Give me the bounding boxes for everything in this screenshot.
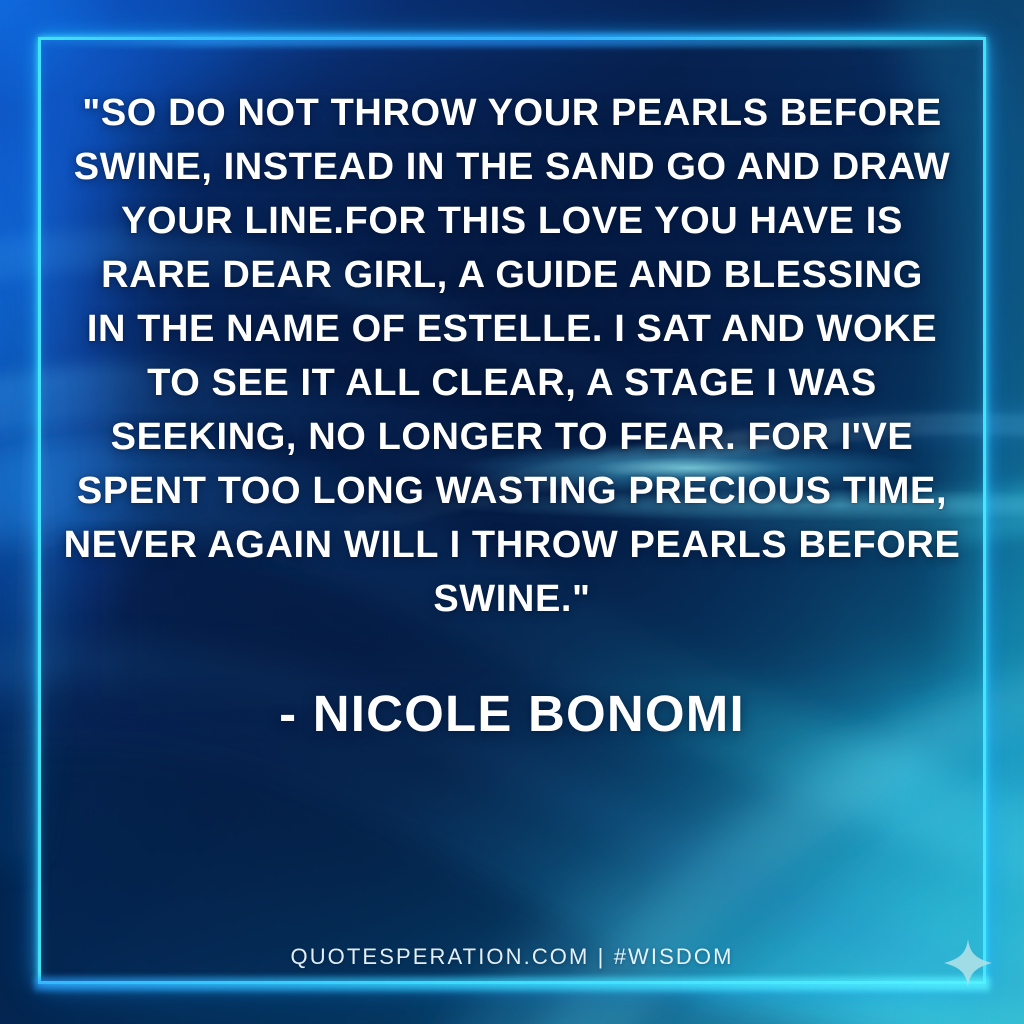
sparkle-star-icon: [943, 938, 993, 988]
quote-line: IN THE NAME OF ESTELLE. I SAT AND WOKE: [62, 302, 962, 356]
quote-line: "SO DO NOT THROW YOUR PEARLS BEFORE: [62, 86, 962, 140]
author-attribution: - NICOLE BONOMI: [62, 684, 962, 743]
quote-text: "SO DO NOT THROW YOUR PEARLS BEFORE SWIN…: [62, 86, 962, 626]
quote-line: RARE DEAR GIRL, A GUIDE AND BLESSING: [62, 248, 962, 302]
quote-line: SEEKING, NO LONGER TO FEAR. FOR I'VE: [62, 410, 962, 464]
card-content: "SO DO NOT THROW YOUR PEARLS BEFORE SWIN…: [0, 0, 1024, 1024]
quote-line: SWINE, INSTEAD IN THE SAND GO AND DRAW: [62, 140, 962, 194]
footer-credit: QUOTESPERATION.COM | #WISDOM: [62, 944, 962, 970]
quote-line: TO SEE IT ALL CLEAR, A STAGE I WAS: [62, 356, 962, 410]
quote-line: NEVER AGAIN WILL I THROW PEARLS BEFORE: [62, 518, 962, 572]
quote-line: SWINE.": [62, 572, 962, 626]
quote-card: "SO DO NOT THROW YOUR PEARLS BEFORE SWIN…: [0, 0, 1024, 1024]
quote-line: YOUR LINE.FOR THIS LOVE YOU HAVE IS: [62, 194, 962, 248]
quote-line: SPENT TOO LONG WASTING PRECIOUS TIME,: [62, 464, 962, 518]
